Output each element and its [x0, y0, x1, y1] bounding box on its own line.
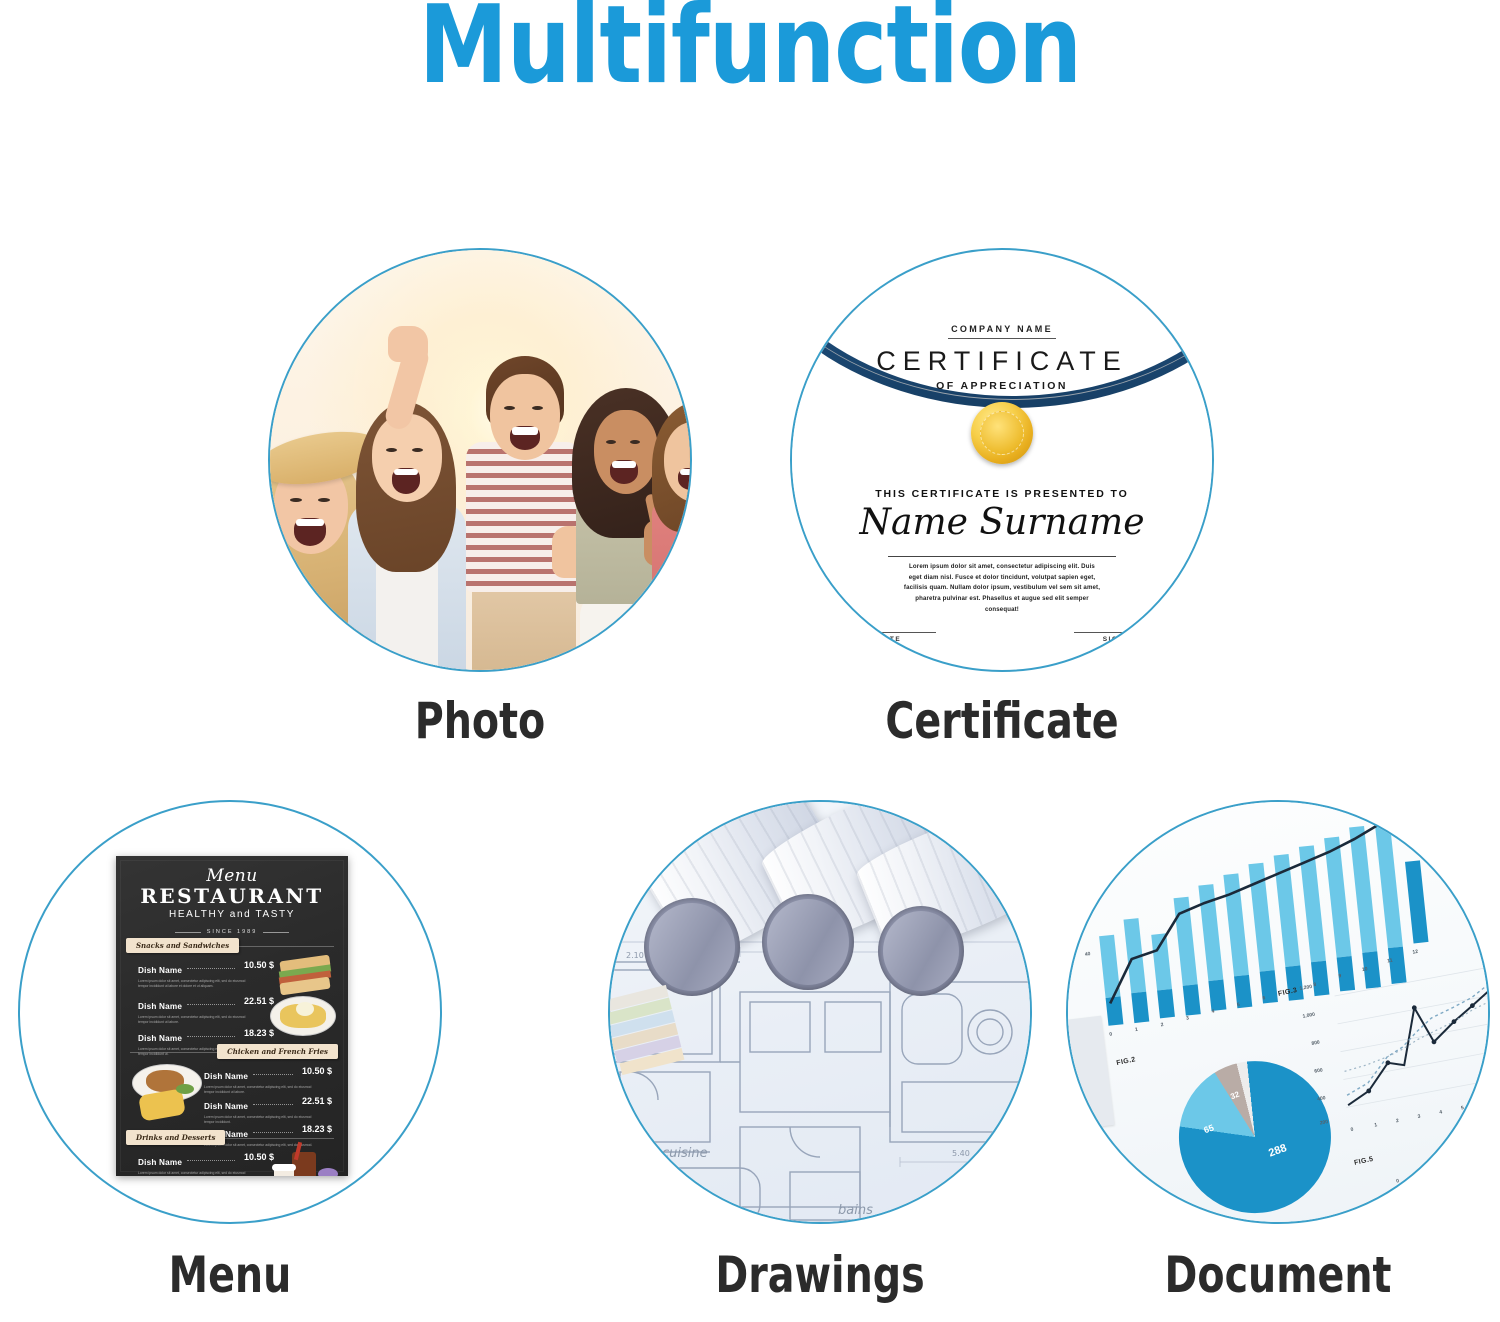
person-1-teeth	[296, 519, 324, 526]
photo-circle	[268, 248, 692, 672]
menu-item: Dish Name 22.51 $ Lorem ipsum dolor sit …	[138, 996, 274, 1025]
recipient-name-rule	[888, 556, 1116, 557]
menu-since: SINCE 1989	[191, 927, 274, 937]
menu-dots	[187, 1036, 235, 1037]
menu-circle: Menu RESTAURANT HEALTHY and TASTY SINCE …	[18, 800, 442, 1224]
gold-seal-icon	[971, 402, 1033, 464]
roast-chicken-fries-illustration	[130, 1062, 202, 1124]
caption-photo: Photo	[293, 692, 666, 750]
line-chart-svg	[1323, 957, 1490, 1136]
x-tick: 3	[1417, 1114, 1421, 1120]
y-tick: 45	[1078, 910, 1085, 917]
person-1-eye-r	[318, 498, 330, 502]
pie-chart-fig4: 288 65 32	[1171, 1054, 1338, 1221]
x-tick: 0	[1350, 1127, 1354, 1133]
x-tick: 12	[1412, 949, 1419, 956]
menu-item-desc: Lorem ipsum dolor sit amet, consectetur …	[138, 1015, 256, 1025]
caption-certificate-text: Certificate	[885, 692, 1118, 750]
caption-document-text: Document	[1165, 1246, 1392, 1304]
person-3-teeth	[512, 427, 538, 435]
photo-scene	[270, 250, 690, 670]
caption-certificate: Certificate	[815, 692, 1188, 750]
menu-dots	[187, 1004, 235, 1005]
menu-dots	[253, 1074, 293, 1075]
menu-dots	[253, 1104, 293, 1105]
menu-tagline: HEALTHY and TASTY	[116, 909, 348, 920]
certificate-title: CERTIFICATE	[792, 346, 1212, 377]
certificate-circle: COMPANY NAME CERTIFICATE OF APPRECIATION…	[790, 248, 1214, 672]
certificate-recipient-name: Name Surname	[792, 502, 1212, 543]
caption-menu-text: Menu	[169, 1246, 292, 1304]
certificate-subtitle: OF APPRECIATION	[792, 380, 1212, 392]
document-circle: 50 45 40 0 1 2 3 4 5 6 7 8 9 10 11 12 FI…	[1066, 800, 1490, 1224]
menu-item: Dish Name 10.50 $ Lorem ipsum dolor sit …	[204, 1066, 332, 1095]
menu-item-name: Dish Name	[138, 1034, 182, 1043]
person-2-teeth	[394, 469, 418, 475]
person-2	[348, 380, 466, 670]
document-page: 50 45 40 0 1 2 3 4 5 6 7 8 9 10 11 12 FI…	[1066, 800, 1490, 1224]
person-4-eye-r	[630, 440, 640, 444]
menu-item-desc: Lorem ipsum dolor sit amet, consectetur …	[138, 1171, 256, 1176]
person-3-eye-l	[504, 406, 515, 410]
y-tick: 50	[1072, 868, 1079, 875]
line-markers	[1357, 985, 1490, 1094]
certificate-company: COMPANY NAME	[792, 324, 1212, 334]
menu-section-banner-2: Chicken and French Fries	[217, 1044, 338, 1059]
pie-slice-288	[1171, 1054, 1338, 1221]
certificate-presented-to: THIS CERTIFICATE IS PRESENTED TO	[792, 488, 1212, 500]
roll-3-inner	[883, 911, 959, 991]
menu-item-name: Dish Name	[138, 966, 182, 975]
x-tick: 6	[1482, 1101, 1486, 1107]
menu-dots	[187, 1160, 235, 1161]
person-4-teeth	[612, 461, 636, 468]
fig5-bar	[1419, 1176, 1490, 1207]
fries-plate-illustration	[270, 996, 336, 1036]
menu-section-banner-3: Drinks and Desserts	[126, 1130, 225, 1145]
caption-menu: Menu	[43, 1246, 416, 1304]
menu-item: Dish Name 10.50 $ Lorem ipsum dolor sit …	[138, 960, 274, 989]
menu-item-price: 22.51 $	[302, 1096, 332, 1106]
page-title-text: Multifunction	[419, 0, 1081, 108]
menu-since-wrap: SINCE 1989	[116, 920, 348, 938]
blueprint-roll-1-mouth	[644, 898, 740, 996]
menu-section-banner-1: Snacks and Sandwiches	[126, 938, 239, 953]
x-tick: 6	[1262, 995, 1266, 1001]
menu-dots	[253, 1132, 293, 1133]
line-series-1	[1337, 987, 1490, 1105]
menu-header: Menu RESTAURANT HEALTHY and TASTY SINCE …	[116, 866, 348, 938]
roll-2-inner	[767, 899, 849, 985]
person-1-eye-l	[290, 498, 302, 502]
svg-text:cuisine: cuisine	[662, 1146, 708, 1161]
menu-dots	[187, 968, 235, 969]
menu-item-desc: Lorem ipsum dolor sit amet, consectetur …	[204, 1085, 322, 1095]
date-line	[850, 632, 936, 633]
caption-photo-text: Photo	[415, 692, 546, 750]
y-tick: 1.000	[1302, 1012, 1315, 1020]
thumbs-up-hand-top	[388, 326, 428, 362]
y-tick: 0	[1396, 1178, 1400, 1184]
blueprint-roll-2-mouth	[762, 894, 854, 990]
person-2-eye-r	[412, 448, 423, 452]
company-rule	[948, 338, 1056, 339]
menu-title: RESTAURANT	[116, 884, 348, 908]
y-tick: 40	[1084, 951, 1091, 958]
x-tick: 8	[1313, 982, 1317, 988]
svg-text:bains: bains	[838, 1203, 873, 1218]
x-tick: 11	[1387, 958, 1393, 965]
figure-label-fig5: FIG.5	[1354, 1156, 1375, 1167]
menu-item-price: 18.23 $	[302, 1124, 332, 1134]
caption-drawings-text: Drawings	[715, 1246, 924, 1304]
x-tick: 1	[1135, 1027, 1139, 1033]
x-tick: Q1	[1398, 1198, 1406, 1205]
person-5	[652, 380, 692, 670]
person-5-teeth	[680, 469, 692, 475]
menu-item-name: Dish Name	[204, 1102, 248, 1111]
figure-label-fig2: FIG.2	[1116, 1056, 1137, 1067]
x-tick: 5	[1461, 1105, 1465, 1111]
svg-text:2.10: 2.10	[626, 951, 644, 960]
x-tick: 3	[1186, 1015, 1190, 1021]
caption-drawings: Drawings	[633, 1246, 1006, 1304]
x-tick: 1	[1374, 1122, 1378, 1128]
gold-seal-inner	[980, 411, 1024, 455]
line-chart-fig3: 1.200 1.000 800 600 400 200 0 1 2 3 4 5 …	[1323, 957, 1490, 1136]
page-title: Multifunction	[60, 0, 1440, 100]
person-2-eye-l	[386, 448, 397, 452]
caption-document: Document	[1091, 1246, 1464, 1304]
bar-chart-fig5: 0 Q1 500 513	[1394, 1143, 1490, 1216]
menu-item-price: 10.50 $	[244, 1152, 274, 1162]
x-tick: 2	[1160, 1022, 1164, 1028]
menu-item-name: Dish Name	[204, 1072, 248, 1081]
sandwich-illustration	[276, 954, 334, 998]
menu-eyebrow: Menu	[116, 866, 348, 886]
menu-poster: Menu RESTAURANT HEALTHY and TASTY SINCE …	[116, 856, 348, 1176]
certificate-body-text: Lorem ipsum dolor sit amet, consectetur …	[902, 562, 1102, 615]
menu-item-price: 10.50 $	[244, 960, 274, 970]
person-3-eye-r	[532, 406, 543, 410]
drawings-circle: cuisine bains 3.25 5.40 2.10	[608, 800, 1032, 1224]
signature-line	[1074, 632, 1160, 633]
x-tick: 0	[1109, 1031, 1113, 1037]
x-tick: 4	[1439, 1109, 1443, 1115]
signature-label: SIGNATURE	[1103, 636, 1154, 643]
menu-item-price: 10.50 $	[302, 1066, 332, 1076]
iced-coffee-dessert-illustration	[272, 1146, 340, 1176]
svg-text:5.40: 5.40	[952, 1149, 970, 1158]
y-tick: 800	[1311, 1040, 1320, 1047]
date-label: DATE	[878, 636, 901, 643]
menu-item: Dish Name 10.50 $ Lorem ipsum dolor sit …	[138, 1152, 274, 1176]
menu-item-name: Dish Name	[138, 1158, 182, 1167]
x-tick: 5	[1237, 1002, 1241, 1008]
menu-item-name: Dish Name	[138, 1002, 182, 1011]
x-tick: 4	[1211, 1009, 1215, 1015]
person-4-eye-l	[606, 440, 616, 444]
fig5-bar-value: 513	[1461, 1185, 1473, 1193]
roll-1-inner	[649, 903, 735, 991]
x-tick: 2	[1396, 1118, 1400, 1124]
menu-item: Dish Name 22.51 $ Lorem ipsum dolor sit …	[204, 1096, 332, 1125]
menu-item-desc: Lorem ipsum dolor sit amet, consectetur …	[138, 979, 256, 989]
blueprint-roll-3-mouth	[878, 906, 964, 996]
